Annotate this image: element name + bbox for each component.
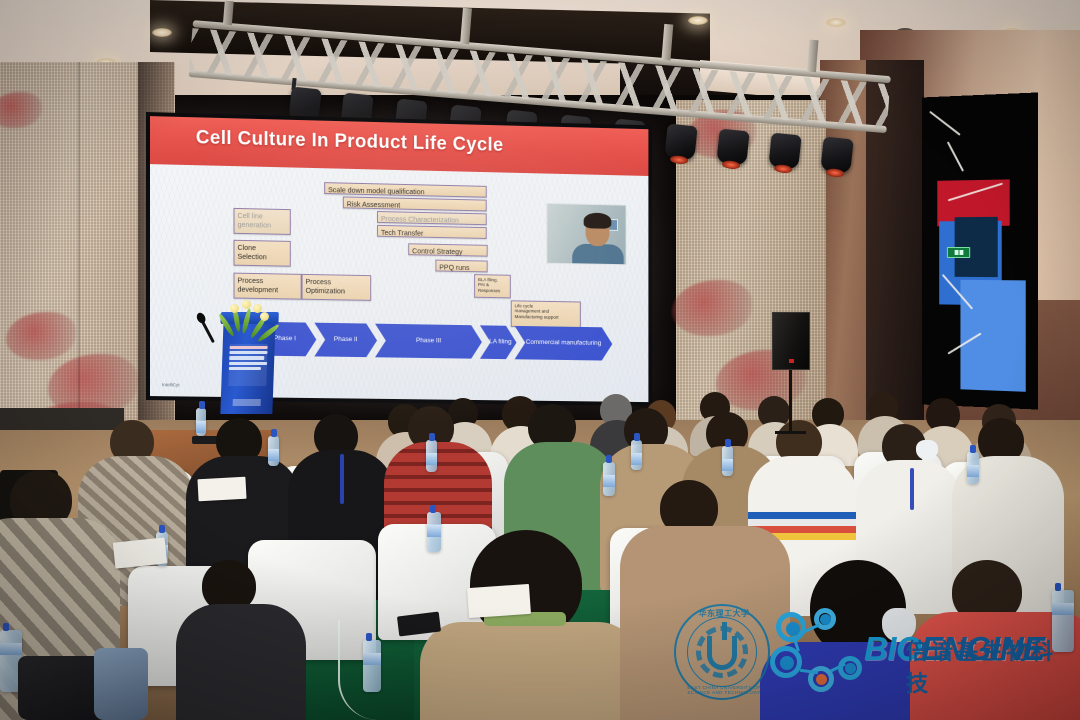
downlight-icon	[826, 18, 846, 27]
slide-footnote: IntelliCyt	[162, 382, 180, 387]
bioengine-chinese-name: 倍谙基生物科技	[906, 634, 1064, 698]
molecule-node-icon	[820, 614, 831, 625]
branch-motif	[929, 111, 960, 136]
slide-box: Tech Transfer	[377, 225, 487, 239]
seal-chinese-text: 华东理工大学	[676, 608, 772, 619]
phase-chevron: Phase III	[375, 324, 482, 359]
conference-photo-scene: Cell Culture In Product Life Cycle Scale…	[0, 0, 1080, 720]
water-bottle	[967, 452, 979, 484]
podium-subtext	[233, 399, 261, 406]
phase-chevron: Commercial manufacturing	[515, 326, 613, 361]
paper	[197, 477, 246, 501]
downlight-icon	[688, 16, 708, 25]
logo-overlay: 华东理工大学 EAST CHINA UNIVERSITY OF SCIENCE …	[674, 602, 1064, 706]
slide-box: Control Strategy	[408, 243, 487, 256]
branch-motif	[947, 141, 964, 171]
downlight-icon	[152, 28, 172, 37]
pa-speaker	[772, 312, 810, 370]
water-bottle	[603, 462, 615, 496]
side-display-blue-panel	[960, 280, 1025, 392]
decorative-wall-right	[676, 100, 826, 430]
water-bottle	[426, 440, 437, 472]
water-bottle	[722, 446, 733, 476]
phase-chevron: BLA filing	[480, 325, 517, 359]
stage-light-icon	[820, 137, 853, 174]
back-ledge	[0, 408, 124, 430]
face-mask	[916, 440, 938, 460]
lanyard	[910, 468, 914, 510]
remote-presenter-video	[546, 203, 626, 265]
slide-box: Clone Selection	[234, 240, 291, 267]
molecule-node-icon	[845, 663, 856, 674]
stage-light-icon	[716, 129, 749, 166]
university-seal: 华东理工大学 EAST CHINA UNIVERSITY OF SCIENCE …	[674, 604, 770, 700]
video-presenter-body	[572, 244, 624, 266]
podium-banner	[228, 344, 267, 386]
notebook	[467, 584, 531, 618]
exit-sign-icon	[947, 247, 970, 258]
seal-monogram-icon	[707, 636, 737, 670]
stage-light-icon	[664, 124, 697, 161]
seal-english-text: EAST CHINA UNIVERSITY OF SCIENCE AND TEC…	[676, 685, 772, 695]
notebook	[113, 537, 167, 568]
bag	[94, 648, 148, 720]
slide-box: Process development	[234, 273, 302, 300]
side-display-screen	[922, 92, 1038, 409]
water-bottle	[427, 512, 441, 552]
bioengine-molecule-mark	[774, 608, 866, 700]
molecule-node-icon	[780, 656, 794, 670]
water-bottle	[268, 436, 279, 466]
phase-chevron: Phase II	[314, 323, 377, 358]
lanyard	[340, 454, 344, 504]
slide-box: Life cycle management and Manufacturing …	[511, 300, 581, 328]
slide-box: Process Characterization	[377, 211, 487, 225]
podium-flowers	[208, 300, 294, 340]
slide-box: BLA filing, PAI & Responses	[474, 274, 511, 298]
speaker-stand	[789, 370, 792, 434]
molecule-node-icon	[786, 622, 800, 636]
slide-box: Cell line generation	[234, 208, 291, 235]
water-bottle	[196, 408, 206, 436]
video-presenter-hair	[584, 213, 612, 229]
water-bottle	[631, 440, 642, 470]
charging-cable	[338, 620, 408, 720]
stage-light-icon	[768, 133, 801, 170]
molecule-node-icon	[816, 674, 827, 685]
phase-timeline: Phase IPhase IIPhase IIIBLA filingCommer…	[253, 322, 612, 361]
speaker-led-icon	[789, 359, 794, 363]
slide-box: PPQ runs	[435, 260, 487, 273]
slide-box: Process Optimization	[302, 274, 372, 301]
